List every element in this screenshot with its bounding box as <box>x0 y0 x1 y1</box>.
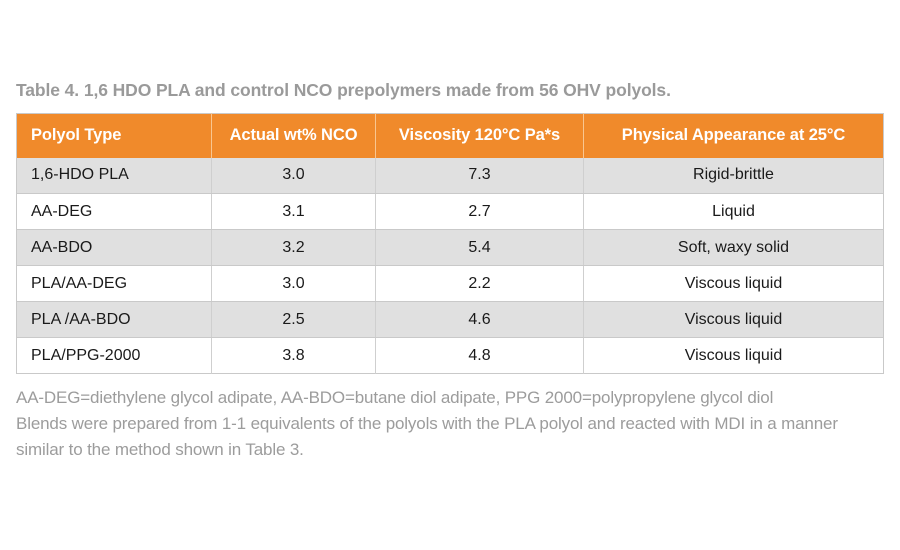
cell-actual-wt-nco: 3.2 <box>212 230 376 266</box>
cell-actual-wt-nco: 3.8 <box>212 338 376 374</box>
cell-viscosity: 4.6 <box>376 302 584 338</box>
cell-physical-appearance: Rigid-brittle <box>584 158 884 194</box>
cell-physical-appearance: Soft, waxy solid <box>584 230 884 266</box>
cell-physical-appearance: Viscous liquid <box>584 338 884 374</box>
table-body: 1,6-HDO PLA 3.0 7.3 Rigid-brittle AA-DEG… <box>17 158 884 374</box>
column-header-polyol-type: Polyol Type <box>17 114 212 158</box>
column-header-viscosity: Viscosity 120°C Pa*s <box>376 114 584 158</box>
cell-viscosity: 4.8 <box>376 338 584 374</box>
cell-physical-appearance: Liquid <box>584 194 884 230</box>
cell-physical-appearance: Viscous liquid <box>584 302 884 338</box>
cell-polyol-type: PLA/AA-DEG <box>17 266 212 302</box>
footnote-line-abbreviations: AA-DEG=diethylene glycol adipate, AA-BDO… <box>16 385 888 411</box>
footnote-line-method: Blends were prepared from 1-1 equivalent… <box>16 411 888 463</box>
table-header: Polyol Type Actual wt% NCO Viscosity 120… <box>17 114 884 158</box>
table-row: PLA /AA-BDO 2.5 4.6 Viscous liquid <box>17 302 884 338</box>
table-container: Polyol Type Actual wt% NCO Viscosity 120… <box>16 113 883 374</box>
table-row: 1,6-HDO PLA 3.0 7.3 Rigid-brittle <box>17 158 884 194</box>
cell-physical-appearance: Viscous liquid <box>584 266 884 302</box>
table-caption: Table 4. 1,6 HDO PLA and control NCO pre… <box>16 80 876 101</box>
table-row: PLA/AA-DEG 3.0 2.2 Viscous liquid <box>17 266 884 302</box>
cell-viscosity: 2.2 <box>376 266 584 302</box>
cell-actual-wt-nco: 3.1 <box>212 194 376 230</box>
cell-polyol-type: AA-BDO <box>17 230 212 266</box>
cell-viscosity: 5.4 <box>376 230 584 266</box>
column-header-physical-appearance: Physical Appearance at 25°C <box>584 114 884 158</box>
cell-actual-wt-nco: 3.0 <box>212 266 376 302</box>
table-row: AA-BDO 3.2 5.4 Soft, waxy solid <box>17 230 884 266</box>
cell-viscosity: 2.7 <box>376 194 584 230</box>
cell-viscosity: 7.3 <box>376 158 584 194</box>
cell-actual-wt-nco: 2.5 <box>212 302 376 338</box>
table-row: PLA/PPG-2000 3.8 4.8 Viscous liquid <box>17 338 884 374</box>
table-row: AA-DEG 3.1 2.7 Liquid <box>17 194 884 230</box>
table-footnote: AA-DEG=diethylene glycol adipate, AA-BDO… <box>16 385 888 463</box>
cell-polyol-type: PLA /AA-BDO <box>17 302 212 338</box>
cell-polyol-type: AA-DEG <box>17 194 212 230</box>
table-figure: Table 4. 1,6 HDO PLA and control NCO pre… <box>0 0 900 550</box>
prepolymer-table: Polyol Type Actual wt% NCO Viscosity 120… <box>16 113 884 374</box>
table-header-row: Polyol Type Actual wt% NCO Viscosity 120… <box>17 114 884 158</box>
cell-polyol-type: 1,6-HDO PLA <box>17 158 212 194</box>
column-header-actual-wt-nco: Actual wt% NCO <box>212 114 376 158</box>
cell-polyol-type: PLA/PPG-2000 <box>17 338 212 374</box>
cell-actual-wt-nco: 3.0 <box>212 158 376 194</box>
